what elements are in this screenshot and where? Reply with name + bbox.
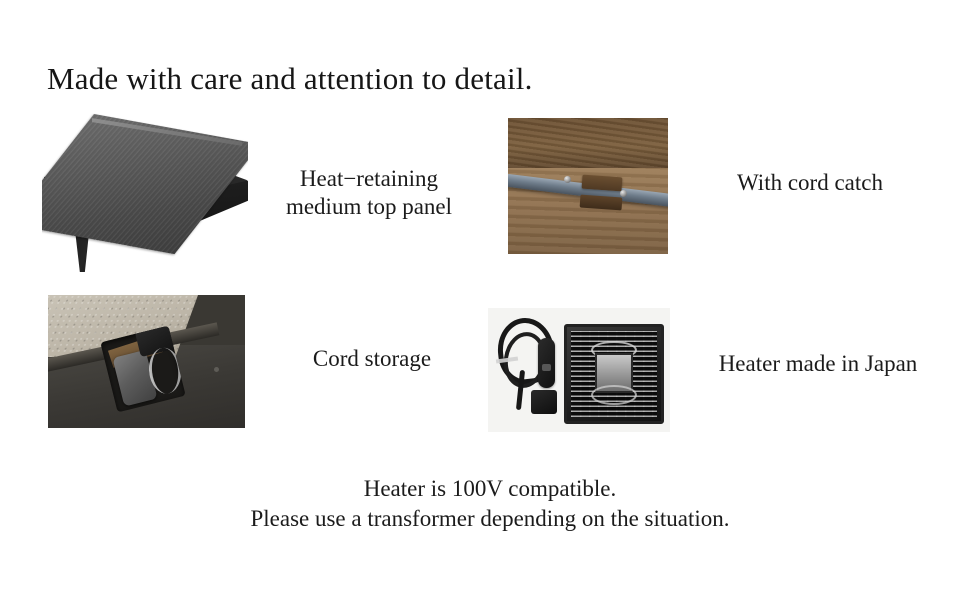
footer-note-line-1: Heater is 100V compatible.: [0, 474, 980, 504]
cord-catch-clip-upper: [582, 175, 623, 192]
page-title: Made with care and attention to detail.: [47, 62, 533, 96]
top-panel-slab: [42, 114, 248, 254]
feature-caption-heater-made-in-japan: Heater made in Japan: [676, 350, 960, 378]
screw-icon: [620, 190, 627, 197]
footer-note-line-2: Please use a transformer depending on th…: [0, 504, 980, 534]
feature-caption-cord-storage: Cord storage: [272, 345, 472, 373]
feature-image-heat-retaining-top-panel: [42, 112, 248, 272]
wood-frame-underside: [508, 118, 668, 170]
feature-image-cord-storage: [48, 295, 245, 428]
footer-note: Heater is 100V compatible. Please use a …: [0, 474, 980, 535]
heater-lamp-lower: [591, 385, 637, 405]
feature-image-heater: [488, 308, 670, 432]
power-plug: [531, 390, 557, 414]
inline-switch: [538, 338, 555, 388]
feature-image-cord-catch: [508, 118, 668, 254]
product-feature-page: Made with care and attention to detail. …: [0, 0, 980, 601]
feature-caption-cord-catch: With cord catch: [690, 169, 930, 197]
switch-button-icon: [542, 364, 551, 371]
heater-unit: [564, 324, 664, 424]
kotatsu-table-illustration: [42, 112, 248, 272]
feature-caption-heat-retaining-top-panel: Heat−retaining medium top panel: [252, 165, 486, 221]
screw-hole-icon: [214, 367, 219, 372]
screw-icon: [564, 176, 571, 183]
